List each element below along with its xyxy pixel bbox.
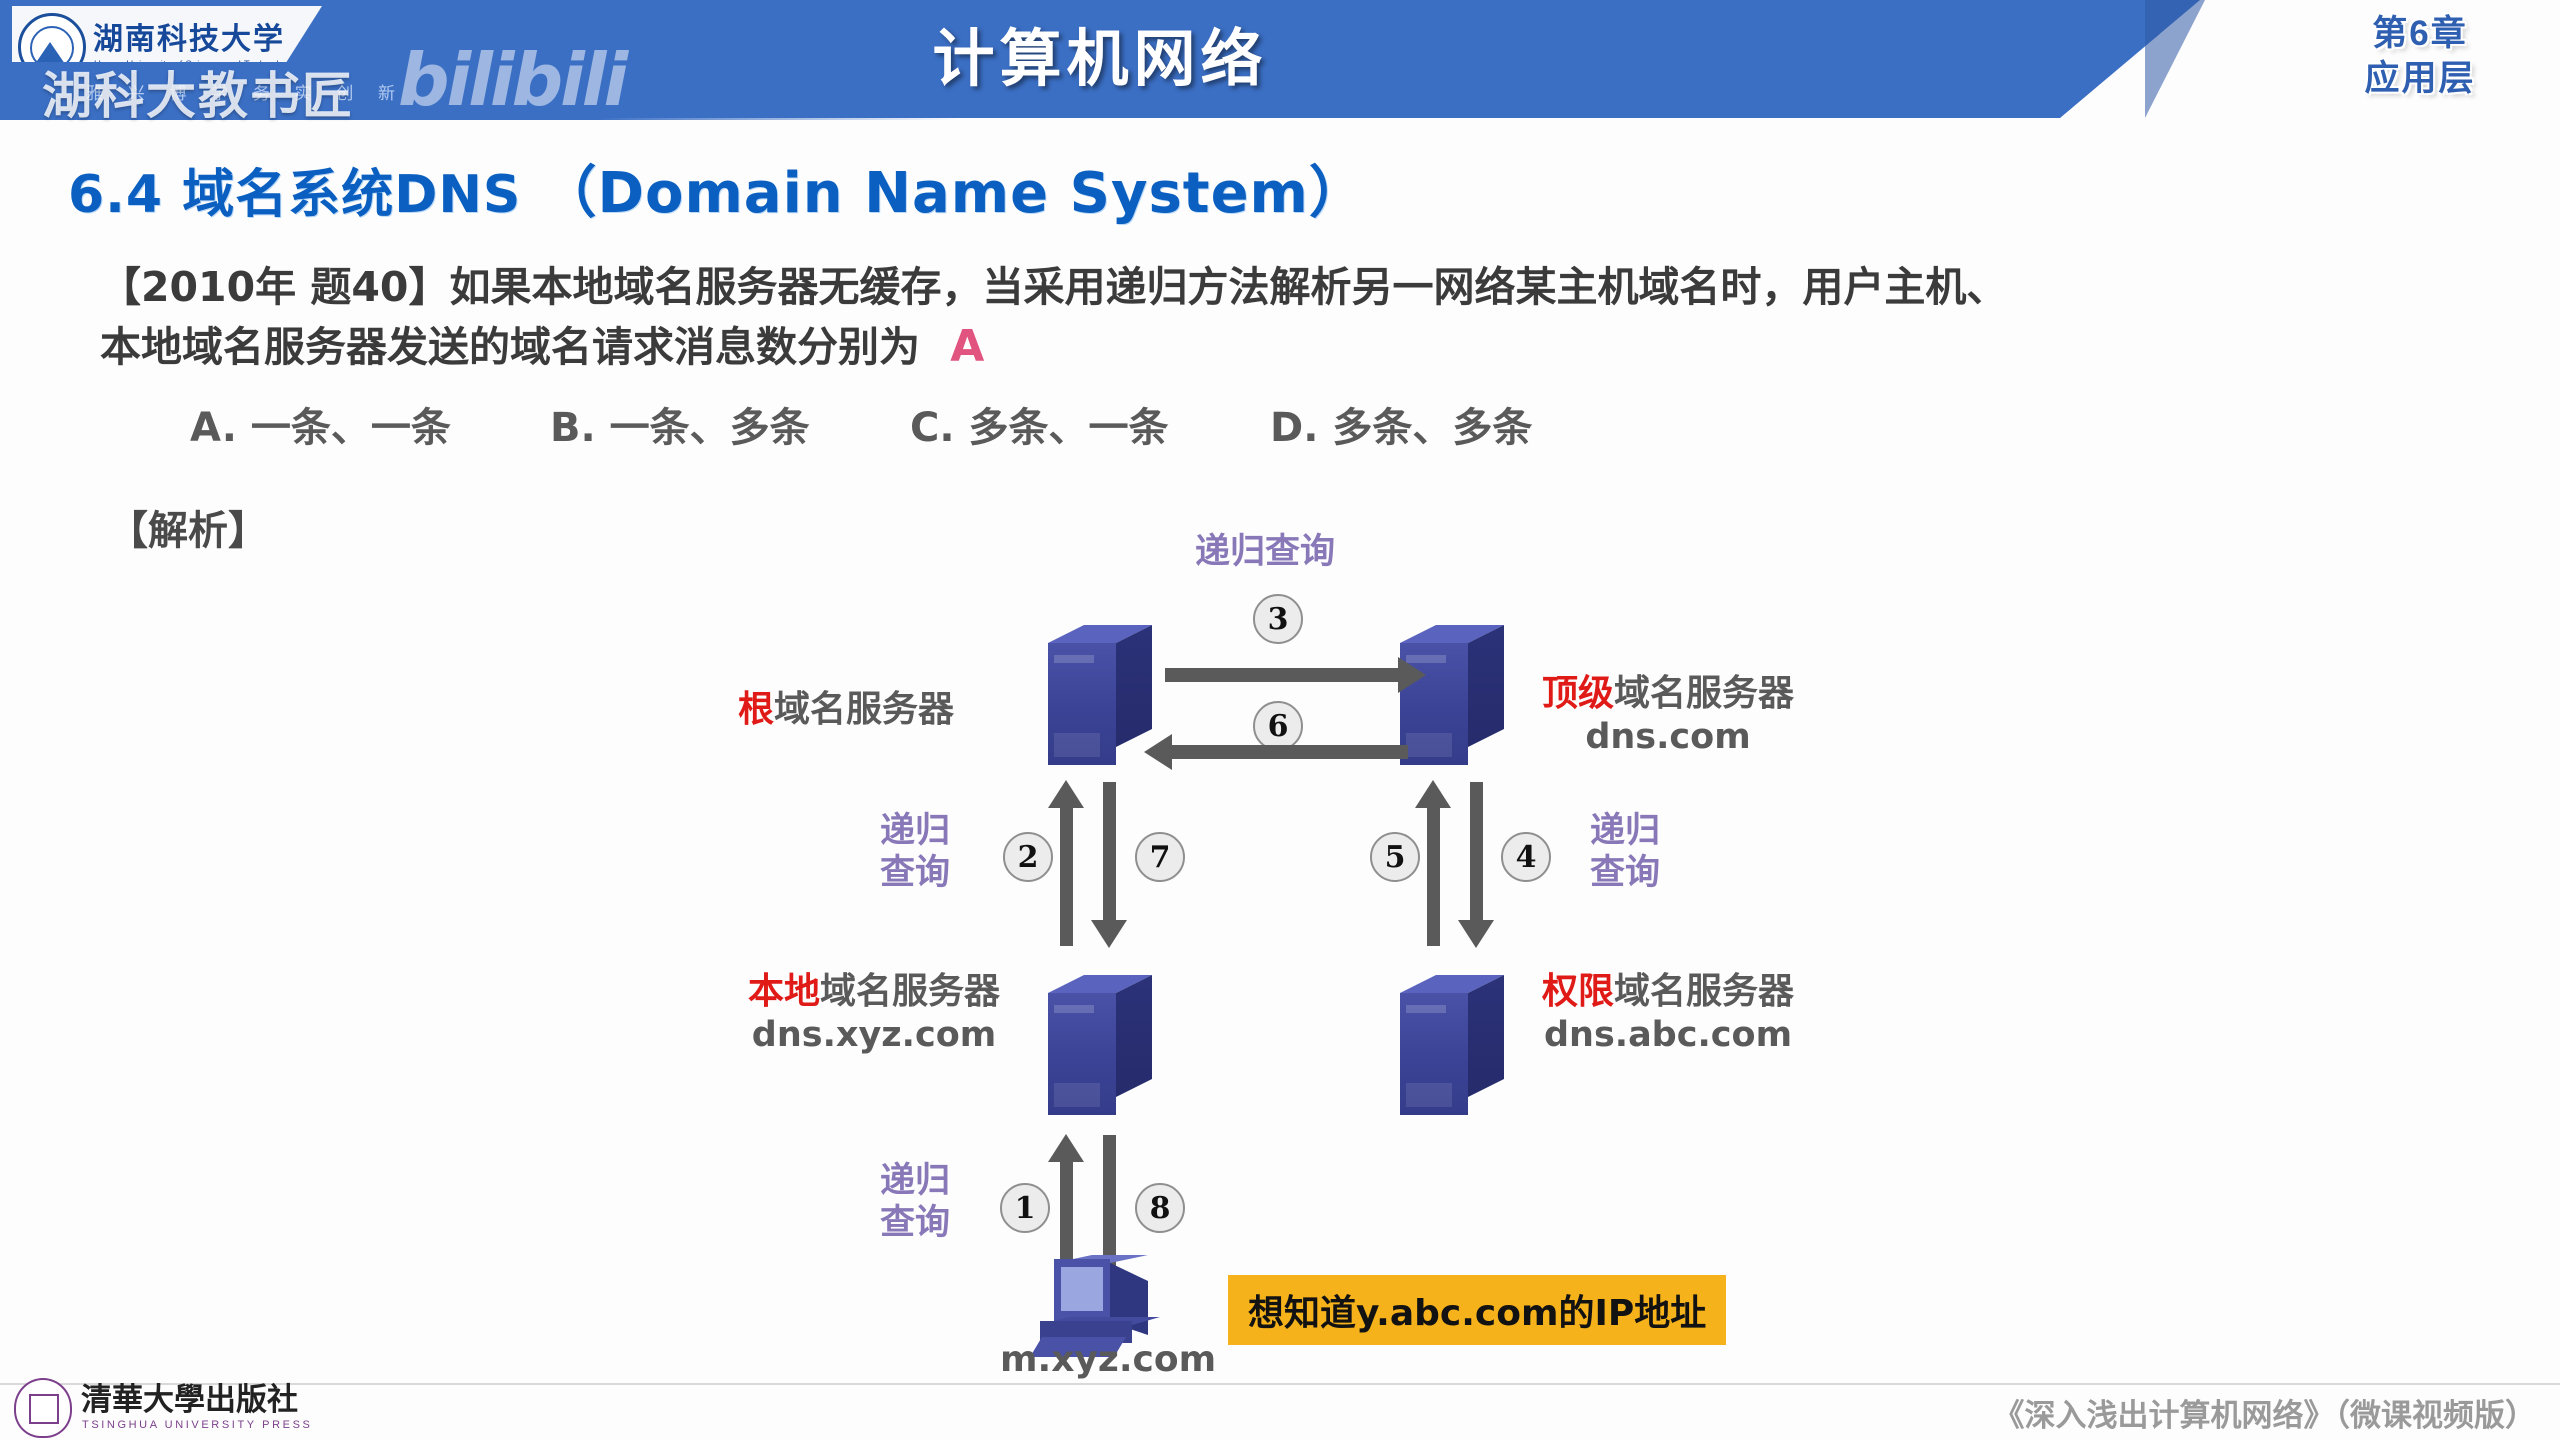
step-marker-8: 8 — [1135, 1183, 1185, 1233]
step-marker-4: 4 — [1501, 832, 1551, 882]
arrow-tld-to-root — [1170, 745, 1408, 759]
choice-list: A. 一条、一条 B. 一条、多条 C. 多条、一条 D. 多条、多条 — [190, 395, 2290, 453]
query-label-right-l1: 递归 — [1590, 810, 1660, 852]
node-label-root-highlight: 根 — [738, 689, 774, 730]
chapter-indicator: 第6章 应用层 — [2320, 12, 2520, 102]
node-label-root: 根域名服务器 — [738, 688, 954, 732]
footer-divider — [0, 1383, 2560, 1385]
node-label-local-rest: 域名服务器 — [820, 971, 1000, 1012]
query-label-bottom-l2: 查询 — [880, 1202, 950, 1244]
query-label-top: 递归查询 — [1195, 531, 1335, 573]
node-label-tld-highlight: 顶级 — [1542, 673, 1614, 714]
client-callout: 想知道y.abc.com的IP地址 — [1228, 1275, 1726, 1345]
query-label-bottom: 递归 查询 — [880, 1160, 950, 1244]
step-marker-2: 2 — [1003, 832, 1053, 882]
publisher-name-cn: 清華大學出版社 — [81, 1385, 312, 1416]
step-marker-3: 3 — [1253, 594, 1303, 644]
chapter-number: 第6章 — [2320, 12, 2520, 57]
query-label-left: 递归 查询 — [880, 810, 950, 894]
node-label-tld: 顶级域名服务器 dns.com — [1542, 672, 1794, 759]
server-icon-auth — [1400, 975, 1504, 1115]
publisher-name-en: TSINGHUA UNIVERSITY PRESS — [82, 1419, 312, 1431]
node-label-tld-rest: 域名服务器 — [1614, 673, 1794, 714]
node-label-local: 本地域名服务器 dns.xyz.com — [748, 970, 1000, 1057]
choice-a[interactable]: A. 一条、一条 — [190, 395, 550, 453]
section-number: 6.4 — [68, 165, 163, 225]
node-label-auth: 权限域名服务器 dns.abc.com — [1542, 970, 1794, 1057]
arrow-root-to-tld — [1165, 668, 1400, 682]
node-domain-local: dns.xyz.com — [748, 1014, 1000, 1057]
node-label-local-highlight: 本地 — [748, 971, 820, 1012]
node-domain-tld: dns.com — [1542, 716, 1794, 759]
choice-c[interactable]: C. 多条、一条 — [910, 395, 1270, 453]
page-header: 湖南科技大学 Hunan University of Science and T… — [0, 0, 2560, 120]
query-label-right: 递归 查询 — [1590, 810, 1660, 894]
query-label-bottom-l1: 递归 — [880, 1160, 950, 1202]
node-label-auth-highlight: 权限 — [1542, 971, 1614, 1012]
step-marker-5: 5 — [1370, 832, 1420, 882]
question-line-1: 【2010年 题40】如果本地域名服务器无缓存，当采用递归方法解析另一网络某主机… — [100, 258, 2400, 316]
question-block: 【2010年 题40】如果本地域名服务器无缓存，当采用递归方法解析另一网络某主机… — [100, 258, 2400, 379]
node-domain-auth: dns.abc.com — [1542, 1014, 1794, 1057]
query-label-left-l2: 查询 — [880, 852, 950, 894]
page-title: 计算机网络 — [0, 8, 2200, 98]
choice-d[interactable]: D. 多条、多条 — [1270, 395, 1630, 453]
arrow-tld-to-auth — [1470, 782, 1483, 922]
book-credit: 《深入浅出计算机网络》（微课视频版） — [1994, 1390, 2537, 1435]
server-icon-tld — [1400, 625, 1504, 765]
query-label-left-l1: 递归 — [880, 810, 950, 852]
step-marker-7: 7 — [1135, 832, 1185, 882]
arrow-local-to-root — [1060, 806, 1073, 946]
query-label-right-l2: 查询 — [1590, 852, 1660, 894]
answer-mark: A — [934, 321, 984, 372]
section-title-cn: 域名系统DNS — [182, 165, 521, 225]
step-marker-1: 1 — [1000, 1183, 1050, 1233]
section-title-en: （Domain Name System） — [540, 161, 1365, 226]
section-title: 6.4 域名系统DNS （Domain Name System） — [68, 148, 1366, 229]
publisher-logo: 清華大學出版社 TSINGHUA UNIVERSITY PRESS — [14, 1378, 312, 1438]
chapter-name: 应用层 — [2320, 57, 2520, 102]
node-domain-client: m.xyz.com — [1000, 1338, 1216, 1382]
choice-b[interactable]: B. 一条、多条 — [550, 395, 910, 453]
node-label-auth-rest: 域名服务器 — [1614, 971, 1794, 1012]
server-icon-local — [1048, 975, 1152, 1115]
dns-recursive-query-diagram: 递归查询 3 6 根域名服务器 顶级域名服务器 dns.com 递归 查询 2 … — [0, 520, 2560, 1380]
step-marker-6: 6 — [1253, 701, 1303, 751]
publisher-seal-icon — [14, 1378, 72, 1438]
arrow-auth-to-tld — [1427, 806, 1440, 946]
arrow-root-to-local — [1103, 782, 1116, 922]
node-label-root-rest: 域名服务器 — [774, 689, 954, 730]
server-icon-root — [1048, 625, 1152, 765]
question-line-2: 本地域名服务器发送的域名请求消息数分别为 — [100, 323, 920, 371]
